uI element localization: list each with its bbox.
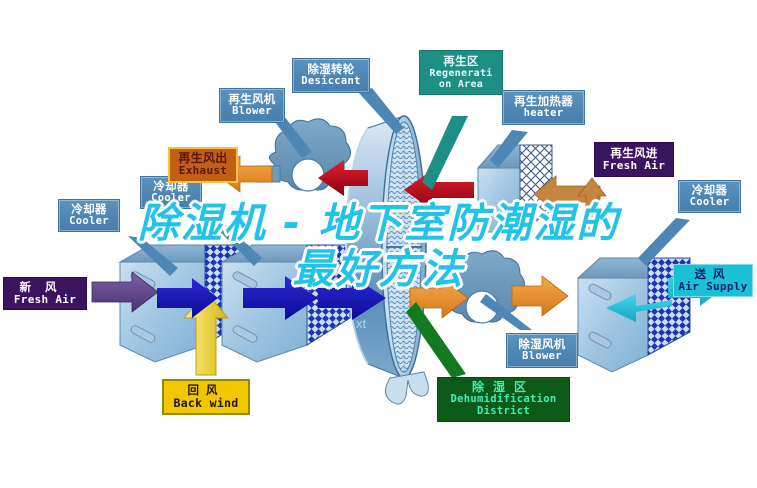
callout-fresh-air-regen[interactable]: 再生风进 Fresh Air [594, 142, 674, 177]
callout-dehumidification-district[interactable]: 除湿区 Dehumidification District [437, 377, 570, 422]
callout-regeneration-area-en1: Regenerati [424, 68, 498, 79]
callout-desiccant[interactable]: 除湿转轮 Desiccant [292, 58, 370, 93]
watermark-text: xt [356, 316, 367, 331]
callout-air-supply-cn: 送风 [678, 268, 748, 281]
callout-fresh-air-in-en: Fresh Air [8, 294, 82, 306]
callout-cooler-left-a[interactable]: 冷却器 Cooler [58, 199, 120, 232]
callout-dehum-district-en2: District [442, 406, 565, 418]
callout-regen-blower-en: Blower [225, 106, 279, 118]
callout-fresh-air-in[interactable]: 新风 Fresh Air [3, 277, 87, 310]
callout-back-wind[interactable]: 回风 Back wind [162, 379, 250, 415]
callout-dehum-district-cn: 除湿区 [442, 381, 565, 394]
callout-fresh-air-regen-cn: 再生风进 [600, 147, 668, 160]
callout-exhaust-en: Exhaust [174, 165, 232, 177]
callout-cooler-right[interactable]: 冷却器 Cooler [678, 180, 741, 213]
callout-fresh-air-in-cn: 新风 [8, 281, 82, 294]
callout-back-wind-en: Back wind [168, 397, 244, 410]
callout-desiccant-cn: 除湿转轮 [298, 63, 364, 76]
callout-regen-heater-en: heater [508, 108, 579, 120]
callout-regeneration-area-cn: 再生区 [424, 55, 498, 68]
callout-regeneration-area[interactable]: 再生区 Regenerati on Area [419, 50, 503, 95]
desiccant-rotor-wheel [346, 116, 428, 404]
callout-desiccant-en: Desiccant [298, 76, 364, 88]
diagram-canvas: xt 除湿转轮 Desiccant 再生风机 Blower 再生区 Regene… [0, 0, 757, 488]
callout-dehum-blower-en: Blower [512, 351, 572, 363]
callout-exhaust[interactable]: 再生风出 Exhaust [168, 147, 238, 183]
callout-cooler-right-en: Cooler [683, 197, 736, 209]
callout-cooler-left-b-en: Cooler [145, 193, 197, 205]
callout-cooler-left-a-en: Cooler [63, 216, 115, 228]
callout-regen-blower-cn: 再生风机 [225, 93, 279, 106]
callout-regen-heater-cn: 再生加热器 [508, 95, 579, 108]
callout-back-wind-cn: 回风 [168, 384, 244, 397]
callout-exhaust-cn: 再生风出 [174, 152, 232, 165]
callout-dehum-blower[interactable]: 除湿风机 Blower [506, 333, 578, 368]
callout-air-supply-en: Air Supply [678, 281, 748, 293]
callout-fresh-air-regen-en: Fresh Air [600, 160, 668, 172]
callout-cooler-left-a-cn: 冷却器 [63, 203, 115, 216]
callout-regen-heater[interactable]: 再生加热器 heater [502, 90, 585, 125]
dehumidifier-schematic-graphic: xt [0, 0, 757, 488]
callout-regen-blower[interactable]: 再生风机 Blower [219, 88, 285, 123]
callout-regeneration-area-en2: on Area [424, 79, 498, 90]
callout-air-supply[interactable]: 送风 Air Supply [673, 264, 753, 297]
callout-cooler-right-cn: 冷却器 [683, 184, 736, 197]
callout-dehum-blower-cn: 除湿风机 [512, 338, 572, 351]
